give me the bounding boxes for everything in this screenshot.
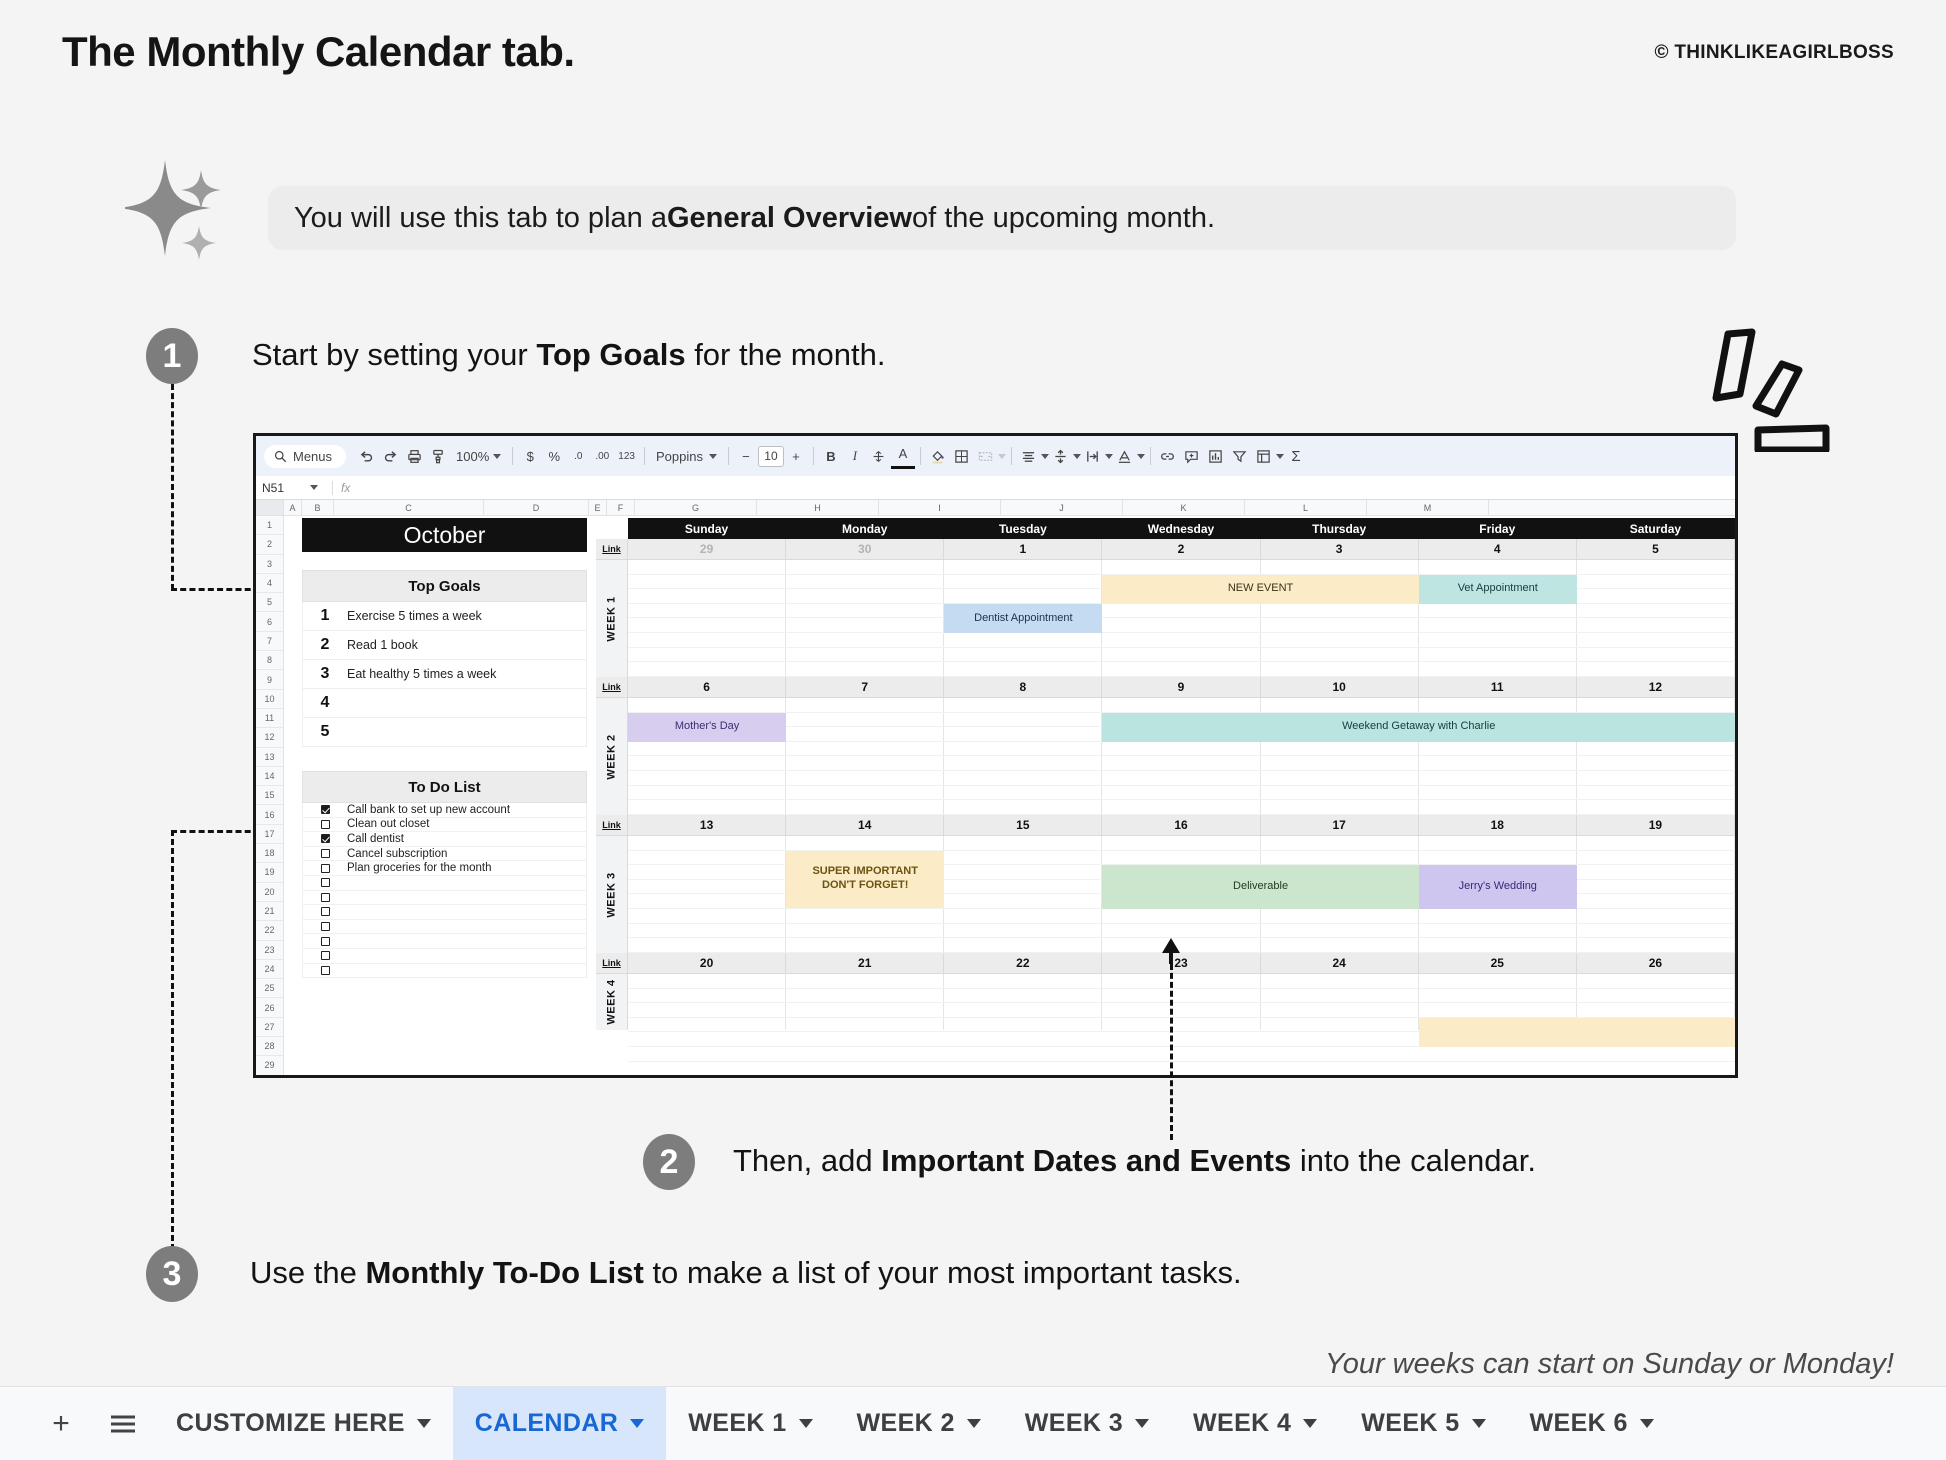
calendar-week-band: WEEK 4	[596, 974, 1735, 1030]
step-2-pre: Then, add	[733, 1143, 881, 1178]
week-label-text: WEEK 1	[606, 596, 618, 641]
todo-row[interactable]: Call bank to set up new account	[302, 803, 587, 818]
divider	[920, 447, 921, 465]
step-3-text: Use the Monthly To-Do List to make a lis…	[250, 1255, 1242, 1291]
calendar-date-number[interactable]: 30	[786, 539, 944, 559]
sheet-tab-label: WEEK 3	[1025, 1409, 1123, 1438]
row-header-20[interactable]: 20	[256, 883, 283, 902]
top-goal-number: 5	[303, 723, 347, 741]
step-3-pre: Use the	[250, 1255, 365, 1290]
top-goal-row[interactable]: 5	[302, 718, 587, 747]
todo-checkbox[interactable]	[303, 966, 347, 975]
sheet-tab-calendar[interactable]: CALENDAR	[453, 1387, 666, 1460]
google-sheets-window[interactable]: Menus 100% $ % .0 .00 123	[253, 433, 1738, 1078]
todo-checkbox[interactable]	[303, 820, 347, 829]
search-icon	[274, 450, 287, 463]
redo-icon[interactable]	[378, 443, 402, 469]
row-header-10[interactable]: 10	[256, 690, 283, 709]
chevron-down-icon[interactable]	[417, 1419, 431, 1428]
sheet-tab-week-4[interactable]: WEEK 4	[1171, 1387, 1339, 1460]
top-goal-number: 3	[303, 665, 347, 683]
calendar-day-name: Monday	[786, 518, 944, 539]
sheets-toolbar[interactable]: Menus 100% $ % .0 .00 123	[256, 436, 1735, 476]
callout-bold: General Overview	[667, 202, 912, 235]
calendar-event[interactable]	[1419, 1018, 1735, 1047]
font-size-increase-button[interactable]: +	[784, 443, 808, 469]
week-label: WEEK 4	[596, 974, 628, 1030]
column-header-J[interactable]: J	[1001, 500, 1123, 515]
chevron-down-icon[interactable]	[1135, 1419, 1149, 1428]
step-1-connector-vertical	[171, 384, 174, 590]
calendar-date-number[interactable]: 9	[1102, 677, 1260, 697]
column-header-I[interactable]: I	[879, 500, 1001, 515]
chevron-down-icon[interactable]	[1041, 454, 1049, 459]
sheet-tab-label: CUSTOMIZE HERE	[176, 1409, 405, 1438]
borders-icon[interactable]	[950, 443, 974, 469]
menus-button[interactable]: Menus	[264, 445, 346, 468]
sheet-tab-week-6[interactable]: WEEK 6	[1508, 1387, 1676, 1460]
todo-row[interactable]	[302, 905, 587, 920]
calendar-date-number[interactable]: 21	[786, 953, 944, 973]
menus-label: Menus	[293, 449, 332, 464]
strikethrough-button[interactable]	[867, 443, 891, 469]
column-header-A[interactable]: A	[284, 500, 302, 515]
calendar-week-band: WEEK 2Mother's DayWeekend Getaway with C…	[596, 698, 1735, 815]
todo-text[interactable]: Call bank to set up new account	[347, 804, 510, 816]
row-headers[interactable]: 1234567891011121314151617181920212223242…	[256, 516, 284, 1075]
week-cells[interactable]: SUPER IMPORTANTDON'T FORGET!DeliverableJ…	[628, 836, 1735, 953]
top-goal-number: 1	[303, 607, 347, 625]
font-family-value: Poppins	[656, 449, 703, 464]
row-header-24[interactable]: 24	[256, 960, 283, 979]
divider	[332, 481, 333, 495]
copyright-credit: © THINKLIKEAGIRLBOSS	[1654, 42, 1894, 64]
top-goal-text[interactable]: Exercise 5 times a week	[347, 609, 482, 623]
bold-button[interactable]: B	[819, 443, 843, 469]
month-title: October	[302, 518, 587, 552]
add-sheet-icon[interactable]: +	[30, 1387, 92, 1460]
todo-checkbox[interactable]	[303, 907, 347, 916]
calendar-date-number[interactable]: 11	[1419, 677, 1577, 697]
zoom-selector[interactable]: 100%	[450, 449, 507, 464]
week-label-text: WEEK 4	[606, 979, 618, 1024]
text-color-button[interactable]: A	[891, 443, 915, 469]
functions-sigma-icon[interactable]: Σ	[1284, 443, 1308, 469]
chevron-down-icon	[493, 454, 501, 459]
insert-comment-icon[interactable]	[1180, 443, 1204, 469]
step-2-badge: 2	[643, 1134, 695, 1190]
sheet-tab-week-5[interactable]: WEEK 5	[1339, 1387, 1507, 1460]
row-header-15[interactable]: 15	[256, 786, 283, 805]
slide-canvas: The Monthly Calendar tab. © THINKLIKEAGI…	[0, 0, 1946, 1460]
row-header-17[interactable]: 17	[256, 825, 283, 844]
todo-checkbox[interactable]	[303, 805, 347, 814]
chevron-down-icon	[310, 485, 318, 490]
calendar-date-number[interactable]: 22	[944, 953, 1102, 973]
text-wrap-icon[interactable]	[1081, 443, 1105, 469]
calendar-day-name: Wednesday	[1102, 518, 1260, 539]
chevron-down-icon[interactable]	[1073, 454, 1081, 459]
row-header-4[interactable]: 4	[256, 574, 283, 593]
sheet-tab-label: WEEK 5	[1361, 1409, 1459, 1438]
column-header-H[interactable]: H	[757, 500, 879, 515]
row-header-14[interactable]: 14	[256, 767, 283, 786]
calendar-date-number[interactable]: 26	[1577, 953, 1735, 973]
top-goal-row[interactable]: 4	[302, 689, 587, 718]
todo-row[interactable]	[302, 891, 587, 906]
calendar-date-row: Link13141516171819	[596, 815, 1735, 836]
calendar-date-number[interactable]: 17	[1261, 815, 1419, 835]
chevron-down-icon[interactable]	[1303, 1419, 1317, 1428]
step-2-bold: Important Dates and Events	[881, 1143, 1291, 1178]
column-header-K[interactable]: K	[1123, 500, 1245, 515]
step-3-connector-vertical	[171, 830, 174, 1250]
todo-checkbox[interactable]	[303, 951, 347, 960]
chevron-down-icon	[709, 454, 717, 459]
chevron-down-icon[interactable]	[1105, 454, 1113, 459]
name-box-value: N51	[262, 481, 284, 495]
column-header-B[interactable]: B	[302, 500, 334, 515]
calendar-date-number[interactable]: 24	[1261, 953, 1419, 973]
chevron-down-icon[interactable]	[967, 1419, 981, 1428]
divider	[1011, 447, 1012, 465]
paint-format-icon[interactable]	[426, 443, 450, 469]
week-label: WEEK 2	[596, 698, 628, 815]
todo-checkbox[interactable]	[303, 849, 347, 858]
calendar-event[interactable]: NEW EVENT	[1102, 575, 1418, 604]
decrease-decimal-button[interactable]: .0	[566, 443, 590, 469]
calendar-date-number[interactable]: 4	[1419, 539, 1577, 559]
calendar-date-number[interactable]: 25	[1419, 953, 1577, 973]
row-header-23[interactable]: 23	[256, 941, 283, 960]
row-header-5[interactable]: 5	[256, 593, 283, 612]
fx-icon: fx	[341, 481, 350, 495]
todo-row[interactable]	[302, 934, 587, 949]
row-header-28[interactable]: 28	[256, 1037, 283, 1056]
row-header-3[interactable]: 3	[256, 555, 283, 574]
more-formats-button[interactable]: 123	[614, 443, 639, 469]
column-header-D[interactable]: D	[484, 500, 589, 515]
column-headers[interactable]: ABCDEFGHIJKLM	[256, 500, 1735, 516]
todo-checkbox[interactable]	[303, 937, 347, 946]
todo-checkbox[interactable]	[303, 878, 347, 887]
calendar-date-number[interactable]: 20	[628, 953, 786, 973]
formula-bar[interactable]: N51 fx	[256, 476, 1735, 500]
step-1-text: Start by setting your Top Goals for the …	[252, 337, 885, 373]
todo-list: Call bank to set up new accountClean out…	[302, 803, 587, 978]
calendar-date-number[interactable]: 10	[1261, 677, 1419, 697]
row-header-29[interactable]: 29	[256, 1056, 283, 1075]
font-size-decrease-button[interactable]: −	[734, 443, 758, 469]
calendar-day-name: Tuesday	[944, 518, 1102, 539]
calendar-date-number[interactable]: 19	[1577, 815, 1735, 835]
row-header-12[interactable]: 12	[256, 728, 283, 747]
todo-list-header: To Do List	[302, 771, 587, 803]
calendar-date-row: Link293012345	[596, 539, 1735, 560]
calendar-day-name: Thursday	[1261, 518, 1419, 539]
row-header-21[interactable]: 21	[256, 902, 283, 921]
todo-row[interactable]: Call dentist	[302, 832, 587, 847]
calendar-event[interactable]: Vet Appointment	[1419, 575, 1577, 604]
row-header-18[interactable]: 18	[256, 844, 283, 863]
top-goal-row[interactable]: 2Read 1 book	[302, 631, 587, 660]
week-link[interactable]: Link	[596, 677, 628, 697]
calendar-date-number[interactable]: 8	[944, 677, 1102, 697]
filter-icon[interactable]	[1228, 443, 1252, 469]
zoom-value: 100%	[456, 449, 489, 464]
spreadsheet-grid[interactable]: ABCDEFGHIJKLM 12345678910111213141516171…	[256, 500, 1735, 1075]
calendar-date-number[interactable]: 12	[1577, 677, 1735, 697]
chevron-down-icon[interactable]	[1137, 454, 1145, 459]
step-2-connector-vertical	[1170, 955, 1173, 1140]
percent-format-button[interactable]: %	[542, 443, 566, 469]
calendar-week-band: WEEK 1NEW EVENTVet AppointmentDentist Ap…	[596, 560, 1735, 677]
todo-row[interactable]	[302, 876, 587, 891]
all-sheets-menu-icon[interactable]	[92, 1387, 154, 1460]
calendar-date-row: Link6789101112	[596, 677, 1735, 698]
calendar-date-number[interactable]: 14	[786, 815, 944, 835]
callout-pre: You will use this tab to plan a	[294, 202, 667, 235]
pivot-table-icon[interactable]	[1252, 443, 1276, 469]
row-header-2[interactable]: 2	[256, 535, 283, 554]
row-header-26[interactable]: 26	[256, 998, 283, 1017]
week-link[interactable]: Link	[596, 953, 628, 973]
calendar-event[interactable]: Dentist Appointment	[944, 604, 1102, 633]
step-3-post: to make a list of your most important ta…	[644, 1255, 1242, 1290]
todo-row[interactable]	[302, 964, 587, 979]
column-header-E[interactable]: E	[589, 500, 607, 515]
step-1-badge: 1	[146, 328, 198, 384]
todo-row[interactable]	[302, 920, 587, 935]
insert-link-icon[interactable]	[1156, 443, 1180, 469]
increase-decimal-button[interactable]: .00	[590, 443, 614, 469]
top-goal-text[interactable]: Eat healthy 5 times a week	[347, 667, 496, 681]
chevron-down-icon[interactable]	[1276, 454, 1284, 459]
top-goal-number: 4	[303, 694, 347, 712]
row-header-25[interactable]: 25	[256, 979, 283, 998]
sheet-tab-customize-here[interactable]: CUSTOMIZE HERE	[154, 1387, 453, 1460]
calendar-week-band: WEEK 3SUPER IMPORTANTDON'T FORGET!Delive…	[596, 836, 1735, 953]
week-link[interactable]: Link	[596, 815, 628, 835]
row-header-1[interactable]: 1	[256, 516, 283, 535]
sparkle-icon	[125, 152, 235, 262]
calendar-event[interactable]: Jerry's Wedding	[1419, 865, 1577, 909]
row-header-13[interactable]: 13	[256, 748, 283, 767]
row-header-7[interactable]: 7	[256, 632, 283, 651]
calendar-day-name: Sunday	[628, 518, 786, 539]
divider	[728, 447, 729, 465]
font-size-input[interactable]: 10	[758, 446, 784, 467]
top-goals-header: Top Goals	[302, 570, 587, 602]
sheet-tabs[interactable]: CUSTOMIZE HERECALENDARWEEK 1WEEK 2WEEK 3…	[154, 1387, 1676, 1460]
sheet-tab-label: WEEK 6	[1530, 1409, 1628, 1438]
page-title: The Monthly Calendar tab.	[62, 28, 575, 76]
todo-checkbox[interactable]	[303, 922, 347, 931]
step-2-text: Then, add Important Dates and Events int…	[733, 1143, 1536, 1179]
week-label: WEEK 1	[596, 560, 628, 677]
todo-text[interactable]: Plan groceries for the month	[347, 862, 491, 874]
calendar-event[interactable]: Weekend Getaway with Charlie	[1102, 713, 1735, 742]
todo-text[interactable]: Clean out closet	[347, 818, 429, 830]
calendar-event[interactable]: SUPER IMPORTANTDON'T FORGET!	[786, 851, 944, 908]
row-header-9[interactable]: 9	[256, 670, 283, 689]
row-header-16[interactable]: 16	[256, 805, 283, 824]
print-icon[interactable]	[402, 443, 426, 469]
chevron-down-icon[interactable]	[630, 1419, 644, 1428]
column-header-M[interactable]: M	[1367, 500, 1489, 515]
calendar-date-number[interactable]: 2	[1102, 539, 1260, 559]
horizontal-align-icon[interactable]	[1017, 443, 1041, 469]
sheet-tab-label: CALENDAR	[475, 1409, 618, 1438]
row-header-11[interactable]: 11	[256, 709, 283, 728]
row-header-19[interactable]: 19	[256, 863, 283, 882]
calendar-date-number[interactable]: 1	[944, 539, 1102, 559]
calendar-event[interactable]: Deliverable	[1102, 865, 1418, 909]
calendar-event[interactable]: Mother's Day	[628, 713, 786, 742]
step-2-post: into the calendar.	[1291, 1143, 1536, 1178]
left-panel: October Top Goals 1Exercise 5 times a we…	[302, 518, 587, 978]
sheet-tab-label: WEEK 2	[857, 1409, 955, 1438]
calendar-date-number[interactable]: 5	[1577, 539, 1735, 559]
step-2-arrowhead	[1160, 938, 1182, 964]
sheet-tab-week-2[interactable]: WEEK 2	[835, 1387, 1003, 1460]
calendar-day-headers: SundayMondayTuesdayWednesdayThursdayFrid…	[628, 518, 1735, 539]
text-rotation-icon[interactable]	[1113, 443, 1137, 469]
step-1-bold: Top Goals	[536, 337, 685, 372]
row-header-6[interactable]: 6	[256, 612, 283, 631]
sheet-tab-label: WEEK 4	[1193, 1409, 1291, 1438]
chevron-down-icon[interactable]	[1472, 1419, 1486, 1428]
calendar-day-name: Saturday	[1577, 518, 1735, 539]
todo-checkbox[interactable]	[303, 834, 347, 843]
todo-row[interactable]: Plan groceries for the month	[302, 861, 587, 876]
step-1-post: for the month.	[686, 337, 886, 372]
column-header-L[interactable]: L	[1245, 500, 1367, 515]
italic-button[interactable]: I	[843, 443, 867, 469]
insert-chart-icon[interactable]	[1204, 443, 1228, 469]
top-goals-list: 1Exercise 5 times a week2Read 1 book3Eat…	[302, 602, 587, 747]
chevron-down-icon[interactable]	[799, 1419, 813, 1428]
todo-row[interactable]: Clean out closet	[302, 818, 587, 833]
name-box[interactable]: N51	[262, 481, 324, 495]
column-header-F[interactable]: F	[607, 500, 635, 515]
step-1-pre: Start by setting your	[252, 337, 536, 372]
calendar-date-number[interactable]: 29	[628, 539, 786, 559]
todo-row[interactable]	[302, 949, 587, 964]
row-header-30[interactable]: 30	[256, 1076, 283, 1078]
column-header-C[interactable]: C	[334, 500, 484, 515]
sheet-tab-label: WEEK 1	[688, 1409, 786, 1438]
row-header-22[interactable]: 22	[256, 921, 283, 940]
sheet-tab-week-1[interactable]: WEEK 1	[666, 1387, 834, 1460]
calendar-day-name: Friday	[1419, 518, 1577, 539]
todo-text[interactable]: Cancel subscription	[347, 848, 447, 860]
chevron-down-icon[interactable]	[998, 454, 1006, 459]
undo-icon[interactable]	[354, 443, 378, 469]
calendar-date-number[interactable]: 6	[628, 677, 786, 697]
todo-text[interactable]: Call dentist	[347, 833, 404, 845]
sheet-tab-week-3[interactable]: WEEK 3	[1003, 1387, 1171, 1460]
intro-callout: You will use this tab to plan a General …	[268, 186, 1736, 250]
week-cells[interactable]	[628, 974, 1735, 1030]
step-3-badge: 3	[146, 1246, 198, 1302]
calendar-date-number[interactable]: 3	[1261, 539, 1419, 559]
row-header-8[interactable]: 8	[256, 651, 283, 670]
divider	[644, 447, 645, 465]
top-goal-row[interactable]: 1Exercise 5 times a week	[302, 602, 587, 631]
fill-color-icon[interactable]	[926, 443, 950, 469]
callout-post: of the upcoming month.	[912, 202, 1215, 235]
divider	[1150, 447, 1151, 465]
week-label-text: WEEK 2	[606, 734, 618, 779]
calendar-date-number[interactable]: 16	[1102, 815, 1260, 835]
row-header-27[interactable]: 27	[256, 1018, 283, 1037]
top-goal-number: 2	[303, 636, 347, 654]
week-label: WEEK 3	[596, 836, 628, 953]
divider	[512, 447, 513, 465]
divider	[813, 447, 814, 465]
column-header-G[interactable]: G	[635, 500, 757, 515]
top-goal-row[interactable]: 3Eat healthy 5 times a week	[302, 660, 587, 689]
week-link[interactable]: Link	[596, 539, 628, 559]
todo-row[interactable]: Cancel subscription	[302, 847, 587, 862]
currency-format-button[interactable]: $	[518, 443, 542, 469]
sheet-tab-bar[interactable]: + CUSTOMIZE HERECALENDARWEEK 1WEEK 2WEEK…	[0, 1386, 1946, 1460]
week-label-text: WEEK 3	[606, 872, 618, 917]
calendar-date-number[interactable]: 13	[628, 815, 786, 835]
font-family-selector[interactable]: Poppins	[650, 449, 723, 464]
todo-checkbox[interactable]	[303, 893, 347, 902]
merge-cells-icon[interactable]	[974, 443, 998, 469]
step-3-bold: Monthly To-Do List	[365, 1255, 643, 1290]
calendar-date-number[interactable]: 15	[944, 815, 1102, 835]
top-goal-text[interactable]: Read 1 book	[347, 638, 418, 652]
week-cells[interactable]: NEW EVENTVet AppointmentDentist Appointm…	[628, 560, 1735, 677]
week-cells[interactable]: Mother's DayWeekend Getaway with Charlie	[628, 698, 1735, 815]
calendar-date-number[interactable]: 7	[786, 677, 944, 697]
vertical-align-icon[interactable]	[1049, 443, 1073, 469]
chevron-down-icon[interactable]	[1640, 1419, 1654, 1428]
todo-checkbox[interactable]	[303, 864, 347, 873]
calendar-date-number[interactable]: 18	[1419, 815, 1577, 835]
footer-note: Your weeks can start on Sunday or Monday…	[1325, 1348, 1894, 1381]
